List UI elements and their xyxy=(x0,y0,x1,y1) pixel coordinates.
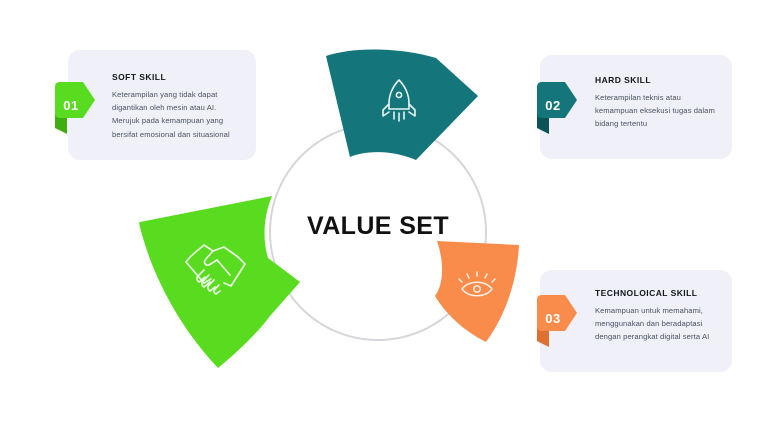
card-soft-skill-body: Keterampilan yang tidak dapat digantikan… xyxy=(112,88,244,141)
card-technological-skill-title: TECHNOLOICAL SKILL xyxy=(595,288,697,298)
badge-01-shape[interactable] xyxy=(55,82,95,118)
badge-03[interactable]: 03 xyxy=(531,291,587,353)
card-soft-skill-title: SOFT SKILL xyxy=(112,72,166,82)
card-technological-skill-body: Kemampuan untuk memahami, menggunakan da… xyxy=(595,304,723,344)
segment-soft-skill-shape[interactable] xyxy=(139,196,300,368)
badge-03-shape[interactable] xyxy=(537,295,577,331)
segment-hard-skill[interactable] xyxy=(326,49,478,160)
segment-hard-skill-shape[interactable] xyxy=(326,49,478,160)
badge-02[interactable]: 02 xyxy=(531,78,587,140)
card-hard-skill-body: Keterampilan teknis atau kemampuan eksek… xyxy=(595,91,723,131)
segment-technological-skill[interactable] xyxy=(435,241,519,342)
card-hard-skill-title: HARD SKILL xyxy=(595,75,651,85)
segment-soft-skill[interactable] xyxy=(139,196,300,368)
badge-01[interactable]: 01 xyxy=(49,78,105,140)
infographic-canvas: VALUE SET SOFT SKILL Keterampilan yang t… xyxy=(0,0,768,432)
center-title: VALUE SET xyxy=(278,212,478,241)
badge-02-shape[interactable] xyxy=(537,82,577,118)
